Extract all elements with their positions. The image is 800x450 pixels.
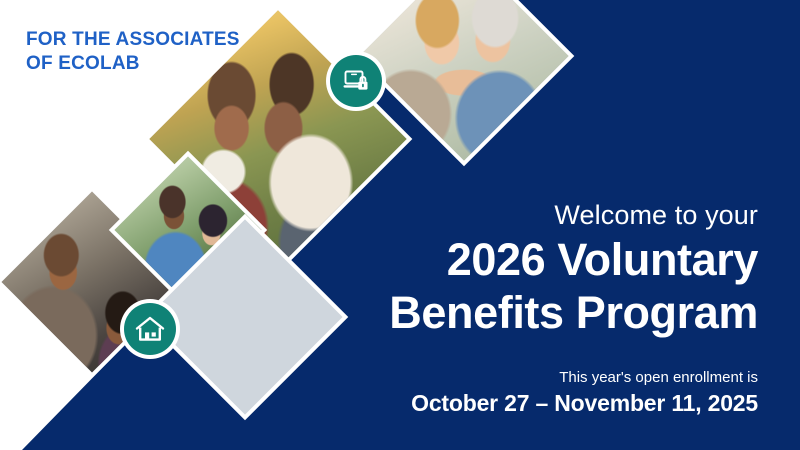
enrollment-kicker: This year's open enrollment is [288, 368, 758, 388]
eyebrow-text: FOR THE ASSOCIATES OF ECOLAB [26, 28, 240, 76]
page-title-line-1: 2026 Voluntary [288, 234, 758, 285]
enrollment-block: This year's open enrollment is October 2… [288, 368, 758, 417]
laptop-lock-icon [330, 55, 382, 107]
presentation-slide: FOR THE ASSOCIATES OF ECOLAB Welcome to … [0, 0, 800, 450]
page-title-line-2: Benefits Program [288, 287, 758, 338]
enrollment-dates: October 27 – November 11, 2025 [288, 389, 758, 417]
home-icon [124, 303, 176, 355]
eyebrow-line-1: FOR THE ASSOCIATES [26, 28, 240, 52]
welcome-text: Welcome to your [288, 198, 758, 232]
headline-block: Welcome to your 2026 Voluntary Benefits … [288, 198, 758, 338]
eyebrow-line-2: OF ECOLAB [26, 52, 240, 76]
